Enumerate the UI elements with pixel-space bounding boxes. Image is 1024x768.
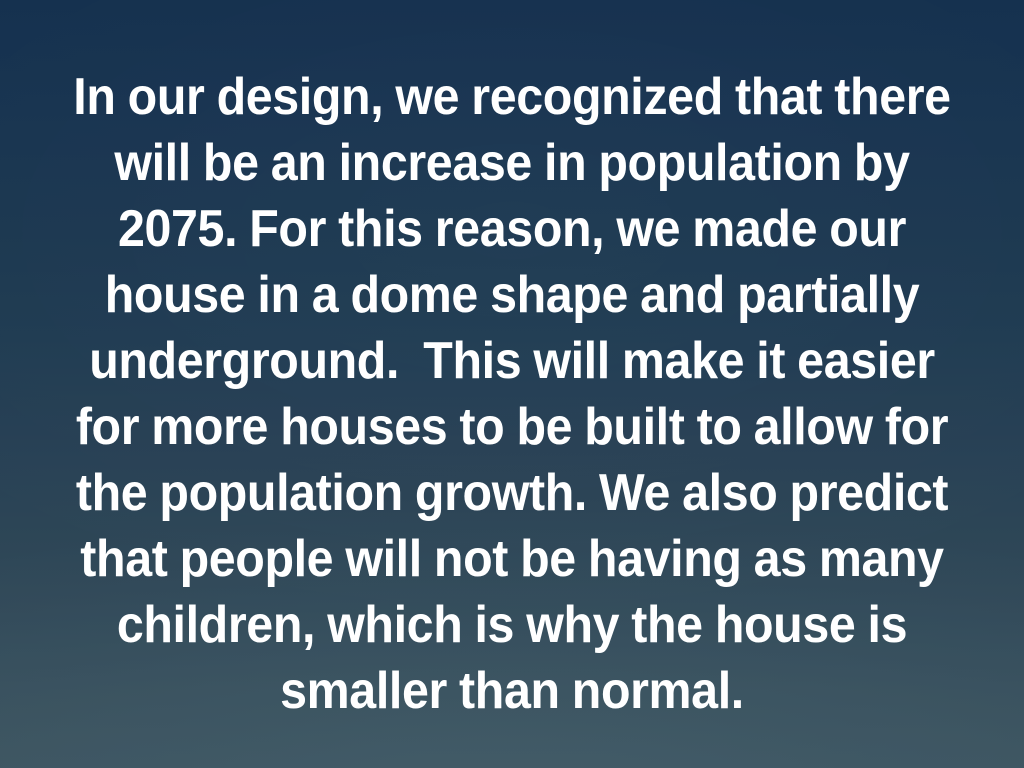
slide-body-container: In our design, we recognized that there … [0, 64, 1024, 724]
slide-canvas: In our design, we recognized that there … [0, 0, 1024, 768]
slide-body-text: In our design, we recognized that there … [52, 64, 973, 724]
